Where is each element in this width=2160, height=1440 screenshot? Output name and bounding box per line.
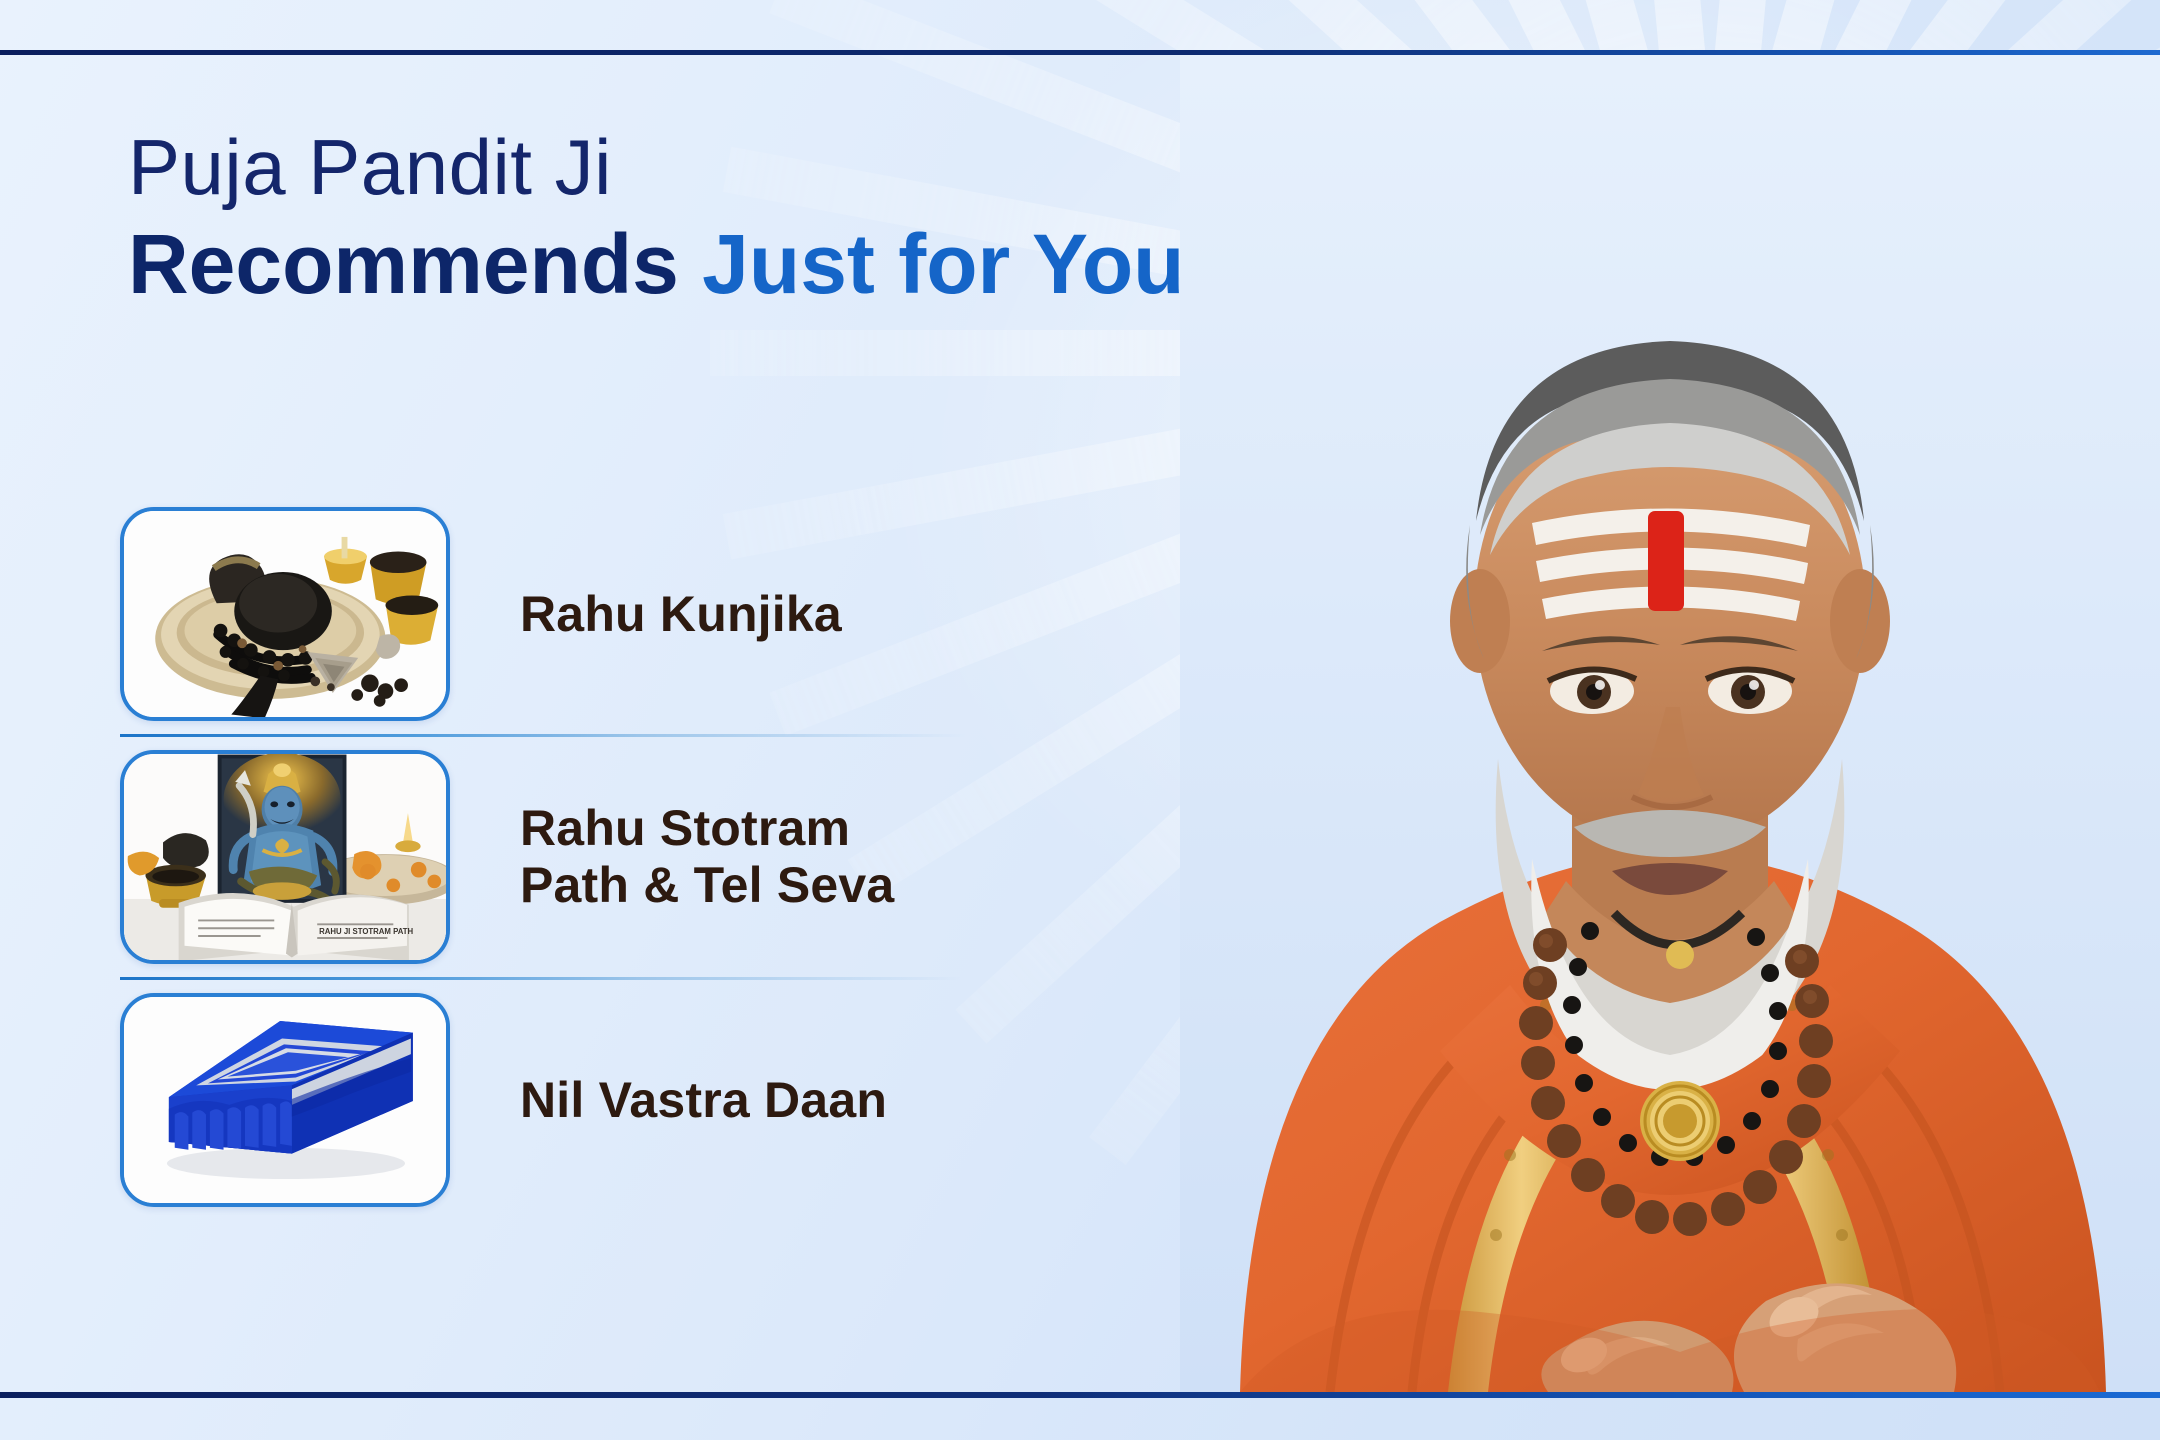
headline-emphasis-bright: Just for You xyxy=(679,217,1185,311)
list-item-label: Rahu Kunjika xyxy=(520,586,842,643)
list-item[interactable]: RAHU JI STOTRAM PATH Rahu Stotram Path &… xyxy=(120,743,990,971)
list-item-label-line-2: Path & Tel Seva xyxy=(520,857,894,914)
headline-line-2: Recommends Just for You xyxy=(128,217,1188,311)
pandit-portrait xyxy=(1180,55,2160,1392)
rahu-deity-book-icon[interactable]: RAHU JI STOTRAM PATH xyxy=(120,750,450,964)
headline-emphasis-dark: Recommends xyxy=(128,217,679,311)
puja-thali-icon[interactable] xyxy=(120,507,450,721)
headline-line-1: Puja Pandit Ji xyxy=(128,125,1188,209)
list-item[interactable]: Rahu Kunjika xyxy=(120,500,990,728)
list-item-label: Rahu Stotram Path & Tel Seva xyxy=(520,800,894,914)
list-item[interactable]: Nil Vastra Daan xyxy=(120,986,990,1214)
list-divider xyxy=(120,734,965,737)
list-item-label: Nil Vastra Daan xyxy=(520,1072,887,1129)
bottom-rule xyxy=(0,1392,2160,1398)
svg-text:RAHU JI STOTRAM PATH: RAHU JI STOTRAM PATH xyxy=(319,927,413,936)
blue-folded-cloth-icon[interactable] xyxy=(120,993,450,1207)
recommended-items-list: Rahu Kunjika xyxy=(120,500,990,1214)
recommendation-banner: Puja Pandit Ji Recommends Just for You xyxy=(0,0,2160,1440)
list-item-label-line-1: Rahu Stotram xyxy=(520,800,894,857)
list-divider xyxy=(120,977,965,980)
headline-block: Puja Pandit Ji Recommends Just for You xyxy=(128,125,1188,311)
